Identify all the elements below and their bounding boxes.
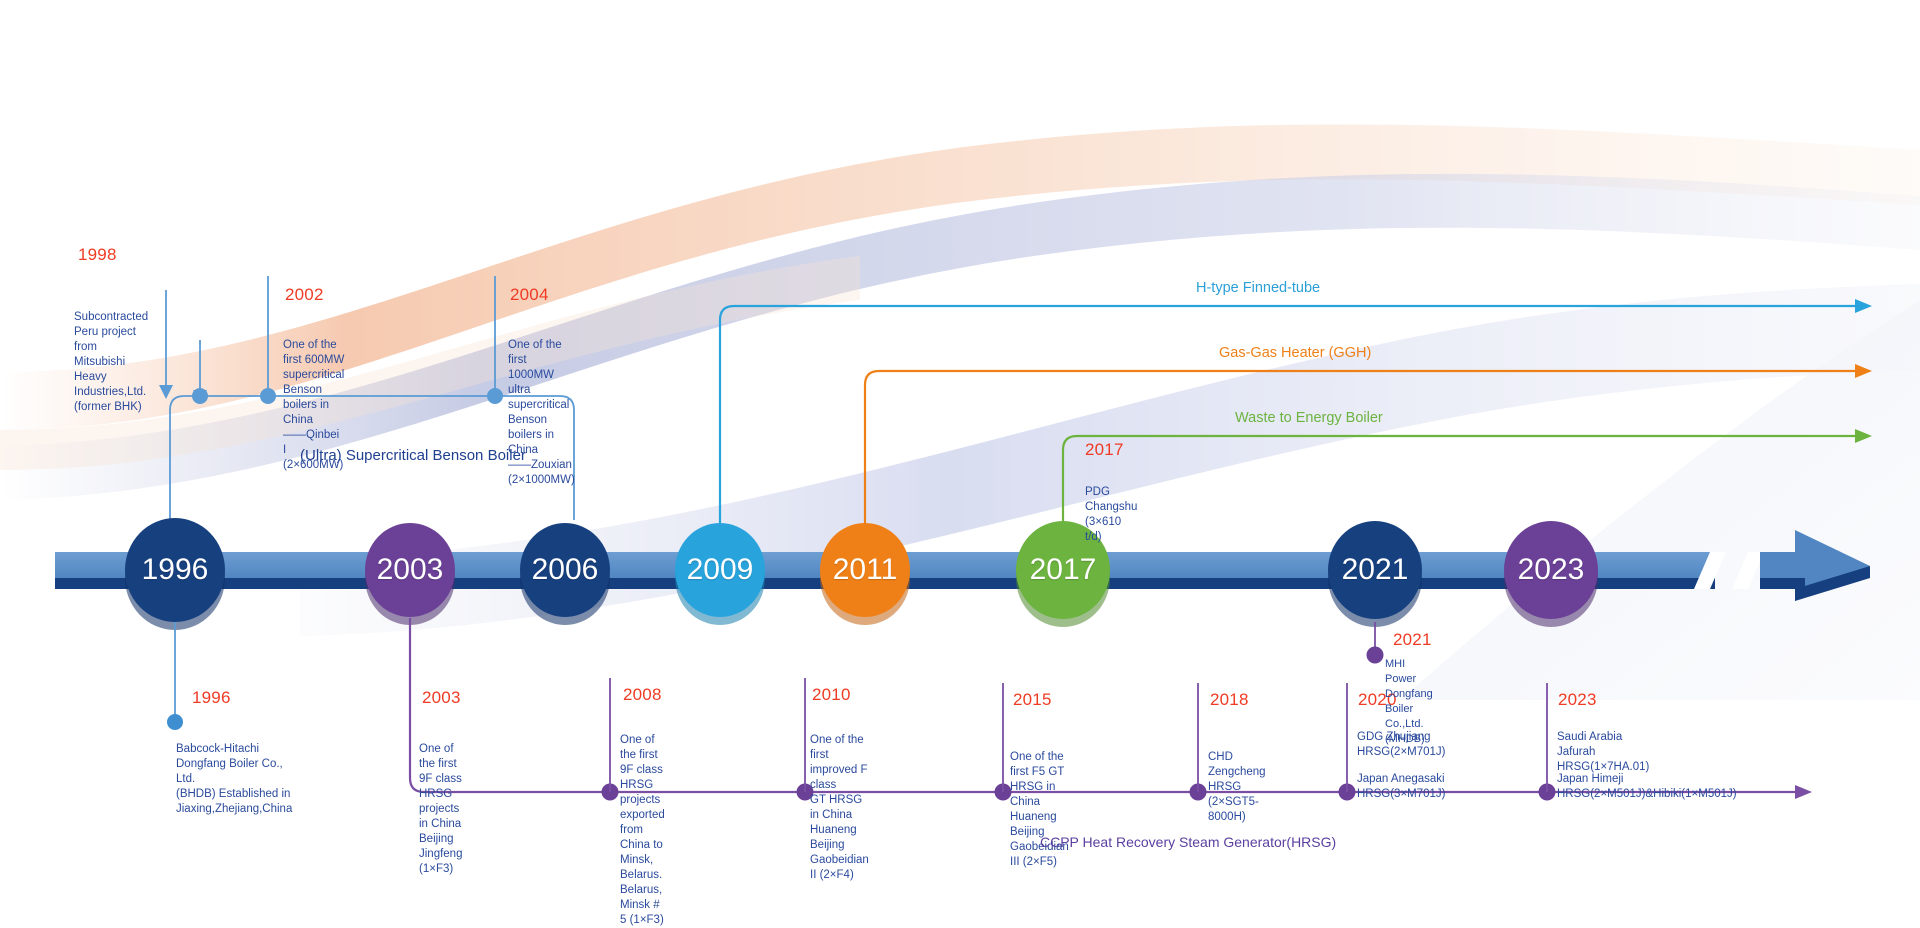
- event-note-1996: Babcock-Hitachi Dongfang Boiler Co., Ltd…: [176, 742, 292, 817]
- timeline-infographic: 1996 2003 2006 2009 2011 2017 2021 2023 …: [0, 0, 1920, 919]
- event-year-2018: 2018: [1210, 690, 1249, 710]
- milestone-label-2003[interactable]: 2003: [377, 555, 444, 585]
- event-year-1998: 1998: [78, 245, 117, 265]
- event-year-2021-mhdb: 2021: [1393, 630, 1432, 650]
- event-year-2017-wte: 2017: [1085, 440, 1124, 460]
- rail-label-waste-to-energy: Waste to Energy Boiler: [1235, 410, 1383, 426]
- event-note-2023-line1: Saudi Arabia Jafurah HRSG(1×7HA.01): [1557, 730, 1649, 775]
- event-note-2017-wte: PDG Changshu (3×610 t/d): [1085, 485, 1137, 545]
- milestone-label-2017[interactable]: 2017: [1030, 555, 1097, 585]
- event-year-2023-bottom: 2023: [1558, 690, 1597, 710]
- milestone-label-2023[interactable]: 2023: [1518, 555, 1585, 585]
- connector-2021-mhdb: [1367, 622, 1384, 664]
- rail-label-gas-gas-heater: Gas-Gas Heater (GGH): [1219, 345, 1371, 361]
- milestone-label-2021[interactable]: 2021: [1342, 555, 1409, 585]
- event-year-2002: 2002: [285, 285, 324, 305]
- event-note-2003: One of the first 9F class HRSG projects …: [419, 742, 462, 877]
- event-note-2021-mhdb: MHI Power Dongfang Boiler Co.,Ltd.(MHDB): [1385, 657, 1433, 747]
- event-year-2003: 2003: [422, 688, 461, 708]
- bottom-caption-ccpp-hrsg: CCPP Heat Recovery Steam Generator(HRSG): [1040, 834, 1336, 850]
- rail-label-h-type-finned-tube: H-type Finned-tube: [1196, 280, 1320, 296]
- event-note-2023-line2: Japan Himeji HRSG(2×M501J)&Hibiki(1×M501…: [1557, 772, 1737, 802]
- event-note-2008: One of the first 9F class HRSG projects …: [620, 733, 665, 928]
- event-year-2015: 2015: [1013, 690, 1052, 710]
- event-year-2008: 2008: [623, 685, 662, 705]
- event-note-2010: One of the first improved F class GT HRS…: [810, 733, 869, 883]
- milestone-label-1996[interactable]: 1996: [142, 555, 209, 585]
- event-note-2018: CHD Zengcheng HRSG (2×SGT5-8000H): [1208, 750, 1266, 825]
- event-year-2004: 2004: [510, 285, 549, 305]
- rail-waste-to-energy: [1063, 429, 1872, 560]
- milestone-label-2009[interactable]: 2009: [687, 555, 754, 585]
- milestone-label-2006[interactable]: 2006: [532, 555, 599, 585]
- event-note-2020-line2: Japan Anegasaki HRSG(3×M701J): [1357, 772, 1446, 802]
- event-note-2015: One of the first F5 GT HRSG in China Hua…: [1010, 750, 1069, 870]
- event-note-1998: Subcontracted Peru project from Mitsubis…: [74, 310, 148, 415]
- event-year-1996: 1996: [192, 688, 231, 708]
- milestone-label-2011[interactable]: 2011: [833, 555, 898, 585]
- event-year-2010: 2010: [812, 685, 851, 705]
- event-note-2002: One of the first 600MW supercritical Ben…: [283, 338, 344, 473]
- rail-h-type-finned-tube: [720, 299, 1872, 560]
- event-note-2004: One of the first 1000MW ultra supercriti…: [508, 338, 575, 488]
